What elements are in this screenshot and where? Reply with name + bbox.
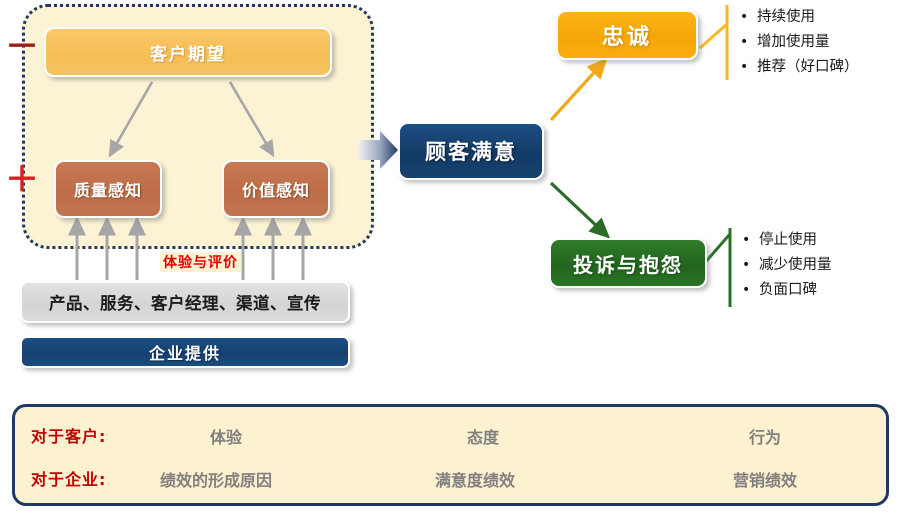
list-item-label: 推荐（好口碑）	[757, 55, 859, 80]
list-item-label: 持续使用	[757, 5, 815, 30]
panel-row-enterprise: 对于企业: 绩效的形成原因 满意度绩效 营销绩效	[15, 455, 886, 497]
list-item-label: 减少使用量	[759, 253, 832, 278]
node-quality-perception[interactable]: 质量感知	[54, 160, 162, 218]
panel-row-customer: 对于客户: 体验 态度 行为	[15, 413, 886, 455]
summary-panel: 对于客户: 体验 态度 行为 对于企业: 绩效的形成原因 满意度绩效 营销绩效	[12, 404, 889, 506]
list-item-label: 增加使用量	[757, 30, 830, 55]
minus-sign: －	[5, 30, 39, 64]
plus-sign: ＋	[5, 163, 39, 197]
list-item: • 持续使用	[740, 5, 859, 30]
node-complaint[interactable]: 投诉与抱怨	[549, 238, 707, 288]
stage-customer-3: 行为	[749, 424, 781, 448]
arrow-satisfaction-to-loyalty	[551, 66, 600, 120]
stage-customer-2: 态度	[467, 424, 499, 448]
node-enterprise-provides[interactable]: 企业提供	[20, 336, 350, 368]
node-customer-expectation[interactable]: 客户期望	[44, 27, 332, 77]
node-value-perception[interactable]: 价值感知	[222, 160, 330, 218]
arrow-satisfaction-to-complaint	[551, 183, 602, 231]
stage-customer-1: 体验	[210, 424, 242, 448]
loyalty-outcome-list: • 持续使用 • 增加使用量 • 推荐（好口碑）	[740, 5, 859, 80]
stage-enterprise-2: 满意度绩效	[435, 467, 515, 491]
stage-enterprise-1: 绩效的形成原因	[160, 467, 272, 491]
list-item: • 减少使用量	[742, 253, 832, 278]
list-item: • 停止使用	[742, 228, 832, 253]
bullet-dot-icon: •	[740, 55, 757, 80]
list-item: • 负面口碑	[742, 278, 832, 303]
loyalty-bracket	[700, 5, 727, 80]
node-loyalty[interactable]: 忠诚	[556, 10, 698, 60]
bullet-dot-icon: •	[742, 278, 759, 303]
bullet-dot-icon: •	[740, 5, 757, 30]
list-item-label: 停止使用	[759, 228, 817, 253]
node-offerings[interactable]: 产品、服务、客户经理、渠道、宣传	[20, 281, 350, 323]
node-customer-satisfaction[interactable]: 顾客满意	[398, 122, 544, 180]
panel-label-customer: 对于客户:	[31, 423, 106, 447]
bullet-dot-icon: •	[742, 253, 759, 278]
bullet-dot-icon: •	[740, 30, 757, 55]
stage-enterprise-3: 营销绩效	[733, 467, 797, 491]
list-item: • 推荐（好口碑）	[740, 55, 859, 80]
panel-label-enterprise: 对于企业:	[31, 466, 106, 490]
bullet-dot-icon: •	[742, 228, 759, 253]
list-item-label: 负面口碑	[759, 278, 817, 303]
complaint-outcome-list: • 停止使用 • 减少使用量 • 负面口碑	[742, 228, 832, 303]
experience-evaluation-label: 体验与评价	[160, 252, 241, 272]
list-item: • 增加使用量	[740, 30, 859, 55]
